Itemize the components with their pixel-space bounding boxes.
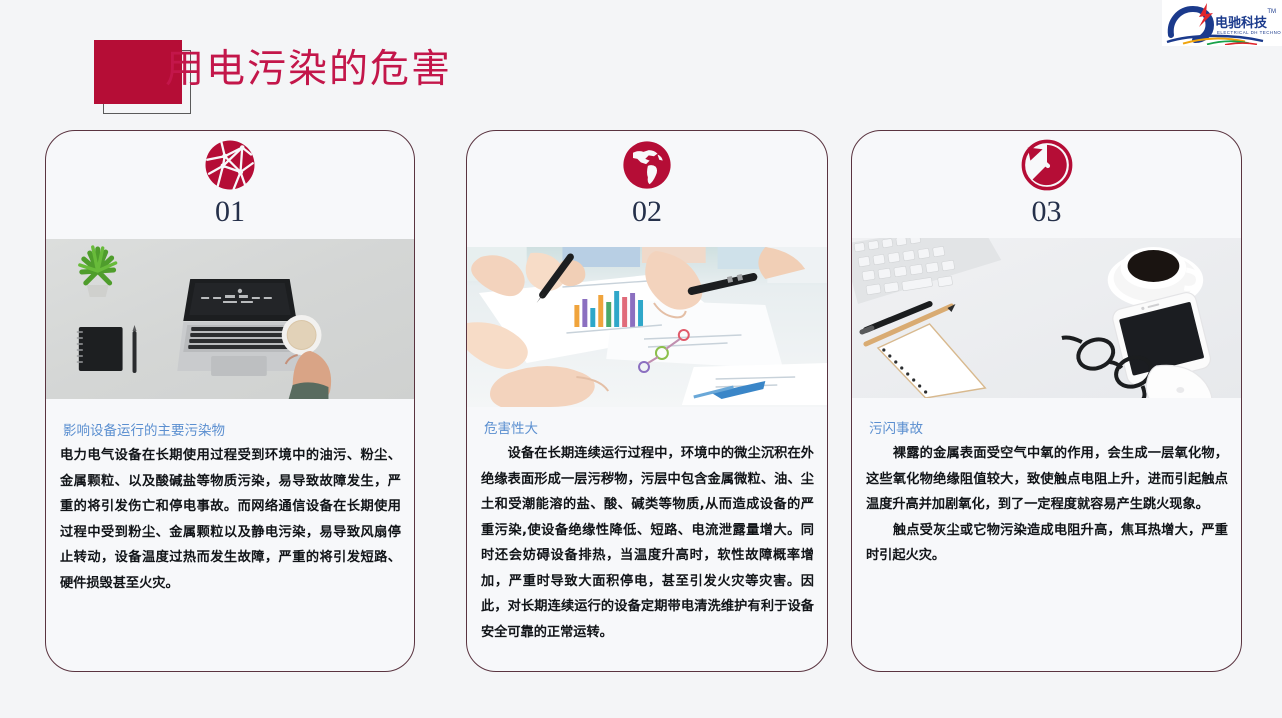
- content-card-03[interactable]: 03: [851, 130, 1242, 672]
- card-number-02: 02: [632, 195, 662, 229]
- laptop-desk-flatlay-image: [46, 239, 414, 399]
- company-logo: 电驰科技 ELECTRICAL DH TECHNOLOGY TM: [1162, 0, 1282, 46]
- card-number-01: 01: [215, 195, 245, 229]
- page-title: 用电污染的危害: [165, 40, 452, 100]
- laptop-desk-illustration: [46, 239, 414, 399]
- card-paragraph-02-0: 设备在长期连续运行过程中，环境中的微尘沉积在外绝缘表面形成一层污秽物，污层中包含…: [481, 441, 814, 645]
- card-subtitle-03: 污闪事故: [869, 419, 1228, 439]
- globe-americas-icon: [619, 137, 675, 193]
- content-card-01[interactable]: 01: [45, 130, 415, 672]
- card-number-03: 03: [1032, 195, 1062, 229]
- card-header-03: 03: [852, 137, 1241, 241]
- card-header-02: 02: [467, 137, 827, 241]
- slide-canvas: 电驰科技 ELECTRICAL DH TECHNOLOGY TM 用电污染的危害: [0, 0, 1282, 718]
- logo-graphic: 电驰科技 ELECTRICAL DH TECHNOLOGY: [1163, 1, 1281, 45]
- svg-text:电驰科技: 电驰科技: [1215, 15, 1268, 31]
- pie-chart-arrow-icon: [1019, 137, 1075, 193]
- card-body-03: 污闪事故 裸露的金属表面受空气中氧的作用，会生成一层氧化物，这些氧化物绝缘阻值较…: [866, 419, 1228, 569]
- card-subtitle-02: 危害性大: [484, 419, 814, 439]
- card-paragraph-03-1: 触点受灰尘或它物污染造成电阻升高，焦耳热增大，严重时引起火灾。: [866, 518, 1228, 569]
- page-title-block: 用电污染的危害: [48, 28, 648, 108]
- white-desk-flatlay-image: [852, 238, 1241, 398]
- svg-text:ELECTRICAL DH TECHNOLOGY: ELECTRICAL DH TECHNOLOGY: [1217, 30, 1281, 35]
- card-paragraph-01-0: 电力电气设备在长期使用过程受到环境中的油污、粉尘、金属颗粒、以及酸碱盐等物质污染…: [60, 443, 401, 596]
- white-desk-illustration: [852, 238, 1241, 398]
- card-paragraph-03-0: 裸露的金属表面受空气中氧的作用，会生成一层氧化物，这些氧化物绝缘阻值较大，致使触…: [866, 441, 1228, 518]
- content-card-02[interactable]: 02: [466, 130, 828, 672]
- meeting-illustration: [467, 247, 827, 407]
- card-body-01: 影响设备运行的主要污染物 电力电气设备在长期使用过程受到环境中的油污、粉尘、金属…: [60, 421, 401, 596]
- card-body-02: 危害性大 设备在长期连续运行过程中，环境中的微尘沉积在外绝缘表面形成一层污秽物，…: [481, 419, 814, 645]
- business-meeting-charts-image: [467, 247, 827, 407]
- card-header-01: 01: [46, 137, 414, 241]
- trademark-symbol: TM: [1267, 9, 1276, 15]
- cracked-network-sphere-icon: [202, 137, 258, 193]
- card-subtitle-01: 影响设备运行的主要污染物: [63, 421, 401, 441]
